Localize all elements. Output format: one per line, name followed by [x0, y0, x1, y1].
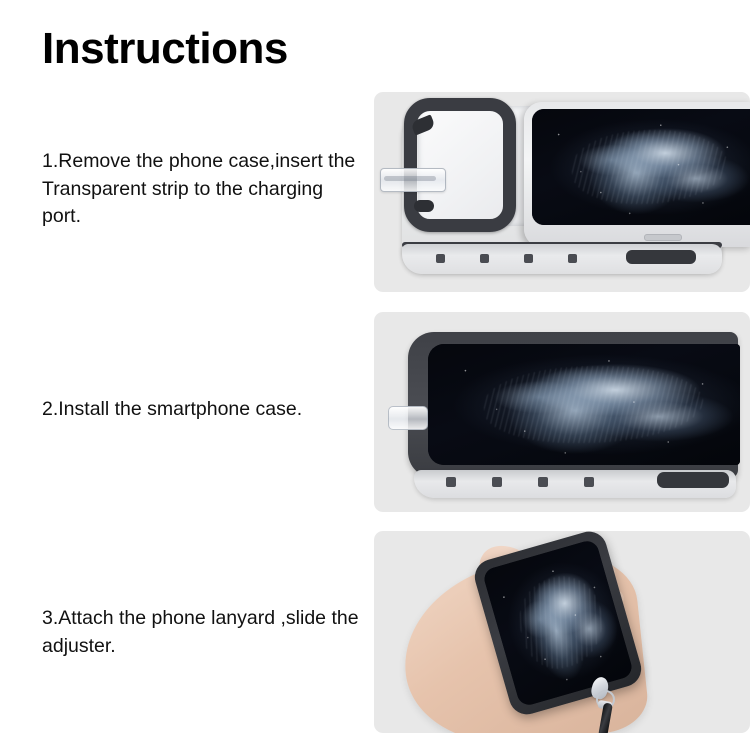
wave-wallpaper	[532, 109, 750, 225]
phone-speaker-grille	[644, 234, 682, 241]
step-2-text: 2.Install the smartphone case.	[42, 396, 362, 424]
case-grip-bump	[524, 254, 533, 263]
step-3-text: 3.Attach the phone lanyard ,slide the ad…	[42, 605, 362, 660]
case-with-strip-illustration	[374, 92, 750, 292]
hand-holding-phone-illustration	[374, 531, 750, 733]
step-3-image-panel	[374, 531, 750, 733]
page-title: Instructions	[42, 26, 288, 72]
case-grip-bump	[446, 477, 456, 487]
wave-wallpaper	[482, 538, 635, 707]
case-grip-bump	[492, 477, 502, 487]
step-1-text: 1.Remove the phone case,insert the Trans…	[42, 148, 362, 231]
bumper-corner-bottom-left	[414, 200, 434, 212]
case-grip-bump	[584, 477, 594, 487]
phone-screen	[428, 344, 740, 465]
case-grip-bump	[436, 254, 445, 263]
transparent-strip	[388, 406, 428, 430]
case-bumper-frame	[408, 332, 738, 478]
case-side-button	[626, 250, 696, 264]
wave-wallpaper	[428, 344, 740, 465]
case-grip-bump	[568, 254, 577, 263]
case-grip-bump	[538, 477, 548, 487]
phone-installed-illustration	[374, 312, 750, 512]
step-2-image-panel	[374, 312, 750, 512]
phone-screen	[482, 538, 635, 707]
step-1-image-panel	[374, 92, 750, 292]
smartphone	[524, 102, 750, 247]
case-grip-bump	[480, 254, 489, 263]
transparent-strip-fold	[384, 176, 436, 181]
phone-screen	[532, 109, 750, 225]
case-side-button	[657, 472, 729, 488]
